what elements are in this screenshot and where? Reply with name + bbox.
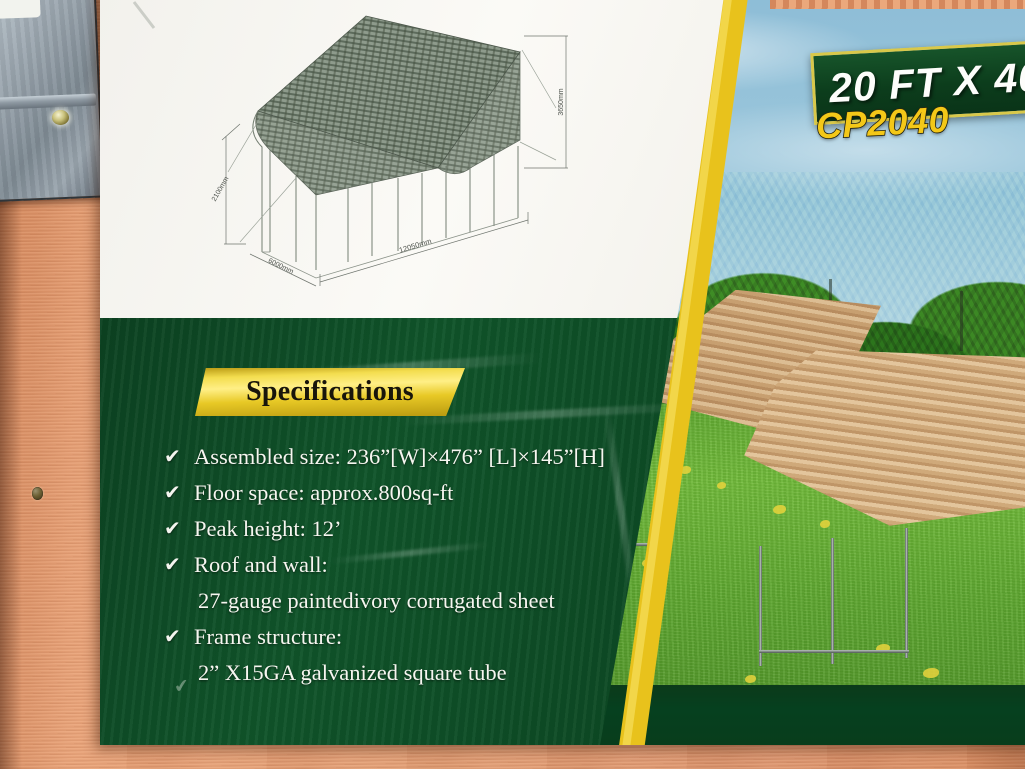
carport-photo-render [661,350,1025,680]
spec-item-label: Floor space: approx.800sq-ft [194,476,453,510]
check-icon: ✔ [160,620,194,654]
dim-length: 12050mm [398,236,433,254]
spec-item-sublabel: 2” X15GA galvanized square tube [160,656,507,690]
dim-width: 6000mm [267,258,295,276]
product-model-code: CP2040 [815,99,950,148]
package-label: G00 [0,0,41,19]
check-icon: ✔ [160,476,194,510]
carport-leg [831,538,834,664]
wood-sliver-top [770,0,1025,9]
spec-item-sublabel: 27-gauge paintedivory corrugated sheet [160,584,555,618]
spec-item-label: Peak height: 12’ [194,512,341,546]
product-box-panel: 3650mm 2100mm 6000mm 12050mm [100,0,1025,745]
specifications-heading: Specifications [246,376,414,408]
carport-leg [905,528,908,658]
specifications-banner: Specifications [195,368,465,416]
metal-bolt [52,110,69,125]
spec-item-label: Roof and wall: [194,548,328,582]
faded-check-icon: ✔ [173,675,191,698]
carport-rail [759,650,909,653]
spec-item-label: Assembled size: 236”[W]×476” [L]×145”[H] [194,440,605,474]
spec-item: ✔ Assembled size: 236”[W]×476” [L]×145”[… [160,440,720,474]
dim-height-peak: 3650mm [558,88,565,115]
spec-item: ✔ Floor space: approx.800sq-ft [160,476,720,510]
dim-height-eave: 2100mm [211,176,231,203]
spec-item-label: Frame structure: [194,620,342,654]
spec-item: ✔ Peak height: 12’ [160,512,720,546]
package-label-text: G00 [0,0,27,1]
check-icon: ✔ [160,440,194,474]
check-icon: ✔ [160,512,194,546]
carport-leg [759,546,762,666]
check-icon: ✔ [160,548,194,582]
technical-drawing: 3650mm 2100mm 6000mm 12050mm [120,0,590,300]
screw-head [32,487,43,500]
